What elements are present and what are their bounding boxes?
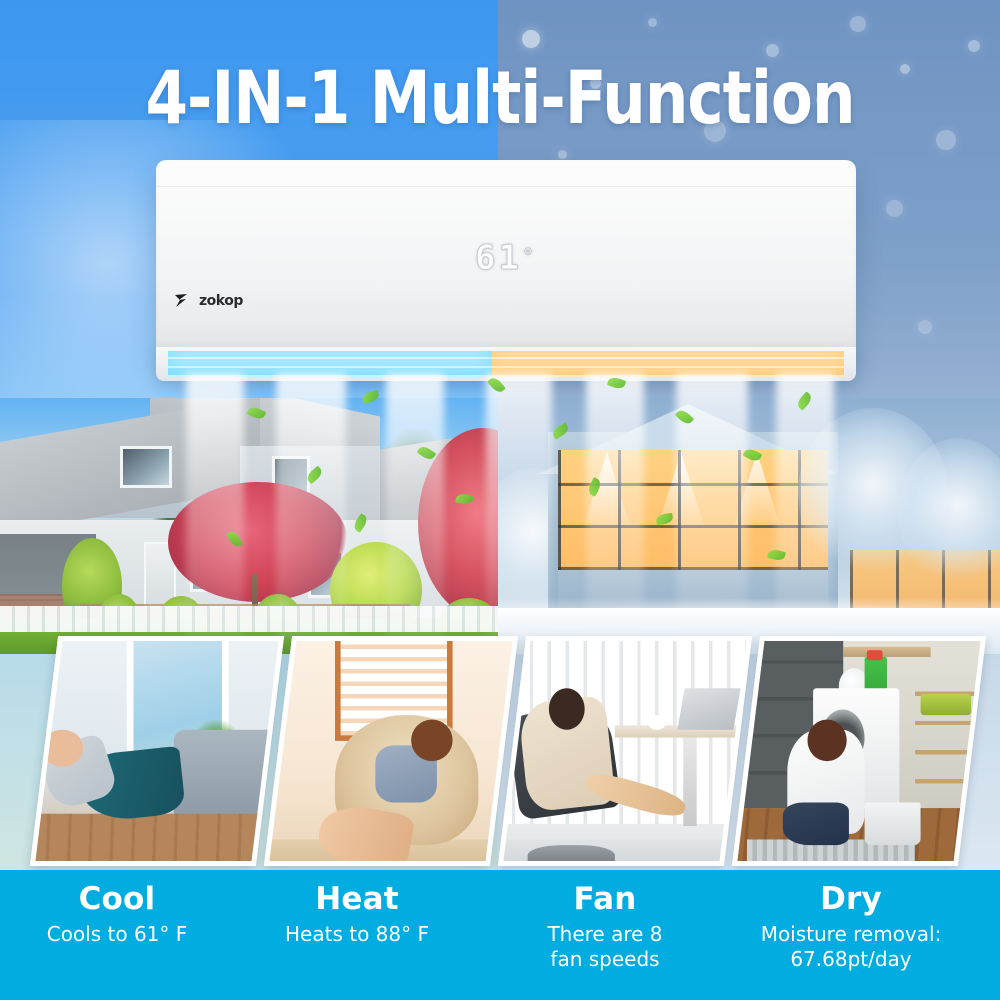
air-conditioner-unit: 61° zokop (156, 160, 856, 358)
caption-detail-dry: Moisture removal: 67.68pt/day (726, 922, 976, 972)
caption-fan: Fan There are 8 fan speeds (480, 882, 730, 972)
product-feature-poster: 4-IN-1 Multi-Function 61° zokop (0, 0, 1000, 1000)
feature-thumbnail-row (0, 636, 1000, 880)
caption-title-fan: Fan (480, 882, 730, 916)
summer-house-scene (0, 398, 498, 654)
thumbnail-dry[interactable] (732, 636, 986, 866)
air-outlet-vent (156, 347, 856, 381)
zokop-mark-icon (174, 293, 196, 309)
louver-slats (168, 351, 844, 377)
caption-detail-heat: Heats to 88° F (232, 922, 482, 947)
brand-logo: zokop (174, 293, 243, 309)
poster-title: 4-IN-1 Multi-Function (35, 56, 965, 141)
unit-seam (156, 186, 856, 187)
brand-name: zokop (199, 293, 243, 309)
caption-dry: Dry Moisture removal: 67.68pt/day (726, 882, 976, 972)
thumbnail-cool[interactable] (30, 636, 284, 866)
caption-cool: Cool Cools to 61° F (0, 882, 242, 947)
thumbnail-heat[interactable] (264, 636, 518, 866)
display-degree-symbol: ° (522, 244, 537, 268)
display-temperature-value: 61 (475, 238, 522, 278)
caption-detail-cool: Cools to 61° F (0, 922, 242, 947)
led-temperature-display: 61° (156, 238, 856, 278)
caption-detail-fan: There are 8 fan speeds (480, 922, 730, 972)
caption-title-heat: Heat (232, 882, 482, 916)
caption-title-cool: Cool (0, 882, 242, 916)
caption-heat: Heat Heats to 88° F (232, 882, 482, 947)
thumbnail-fan[interactable] (498, 636, 752, 866)
winter-house-scene (498, 398, 1000, 654)
caption-title-dry: Dry (726, 882, 976, 916)
